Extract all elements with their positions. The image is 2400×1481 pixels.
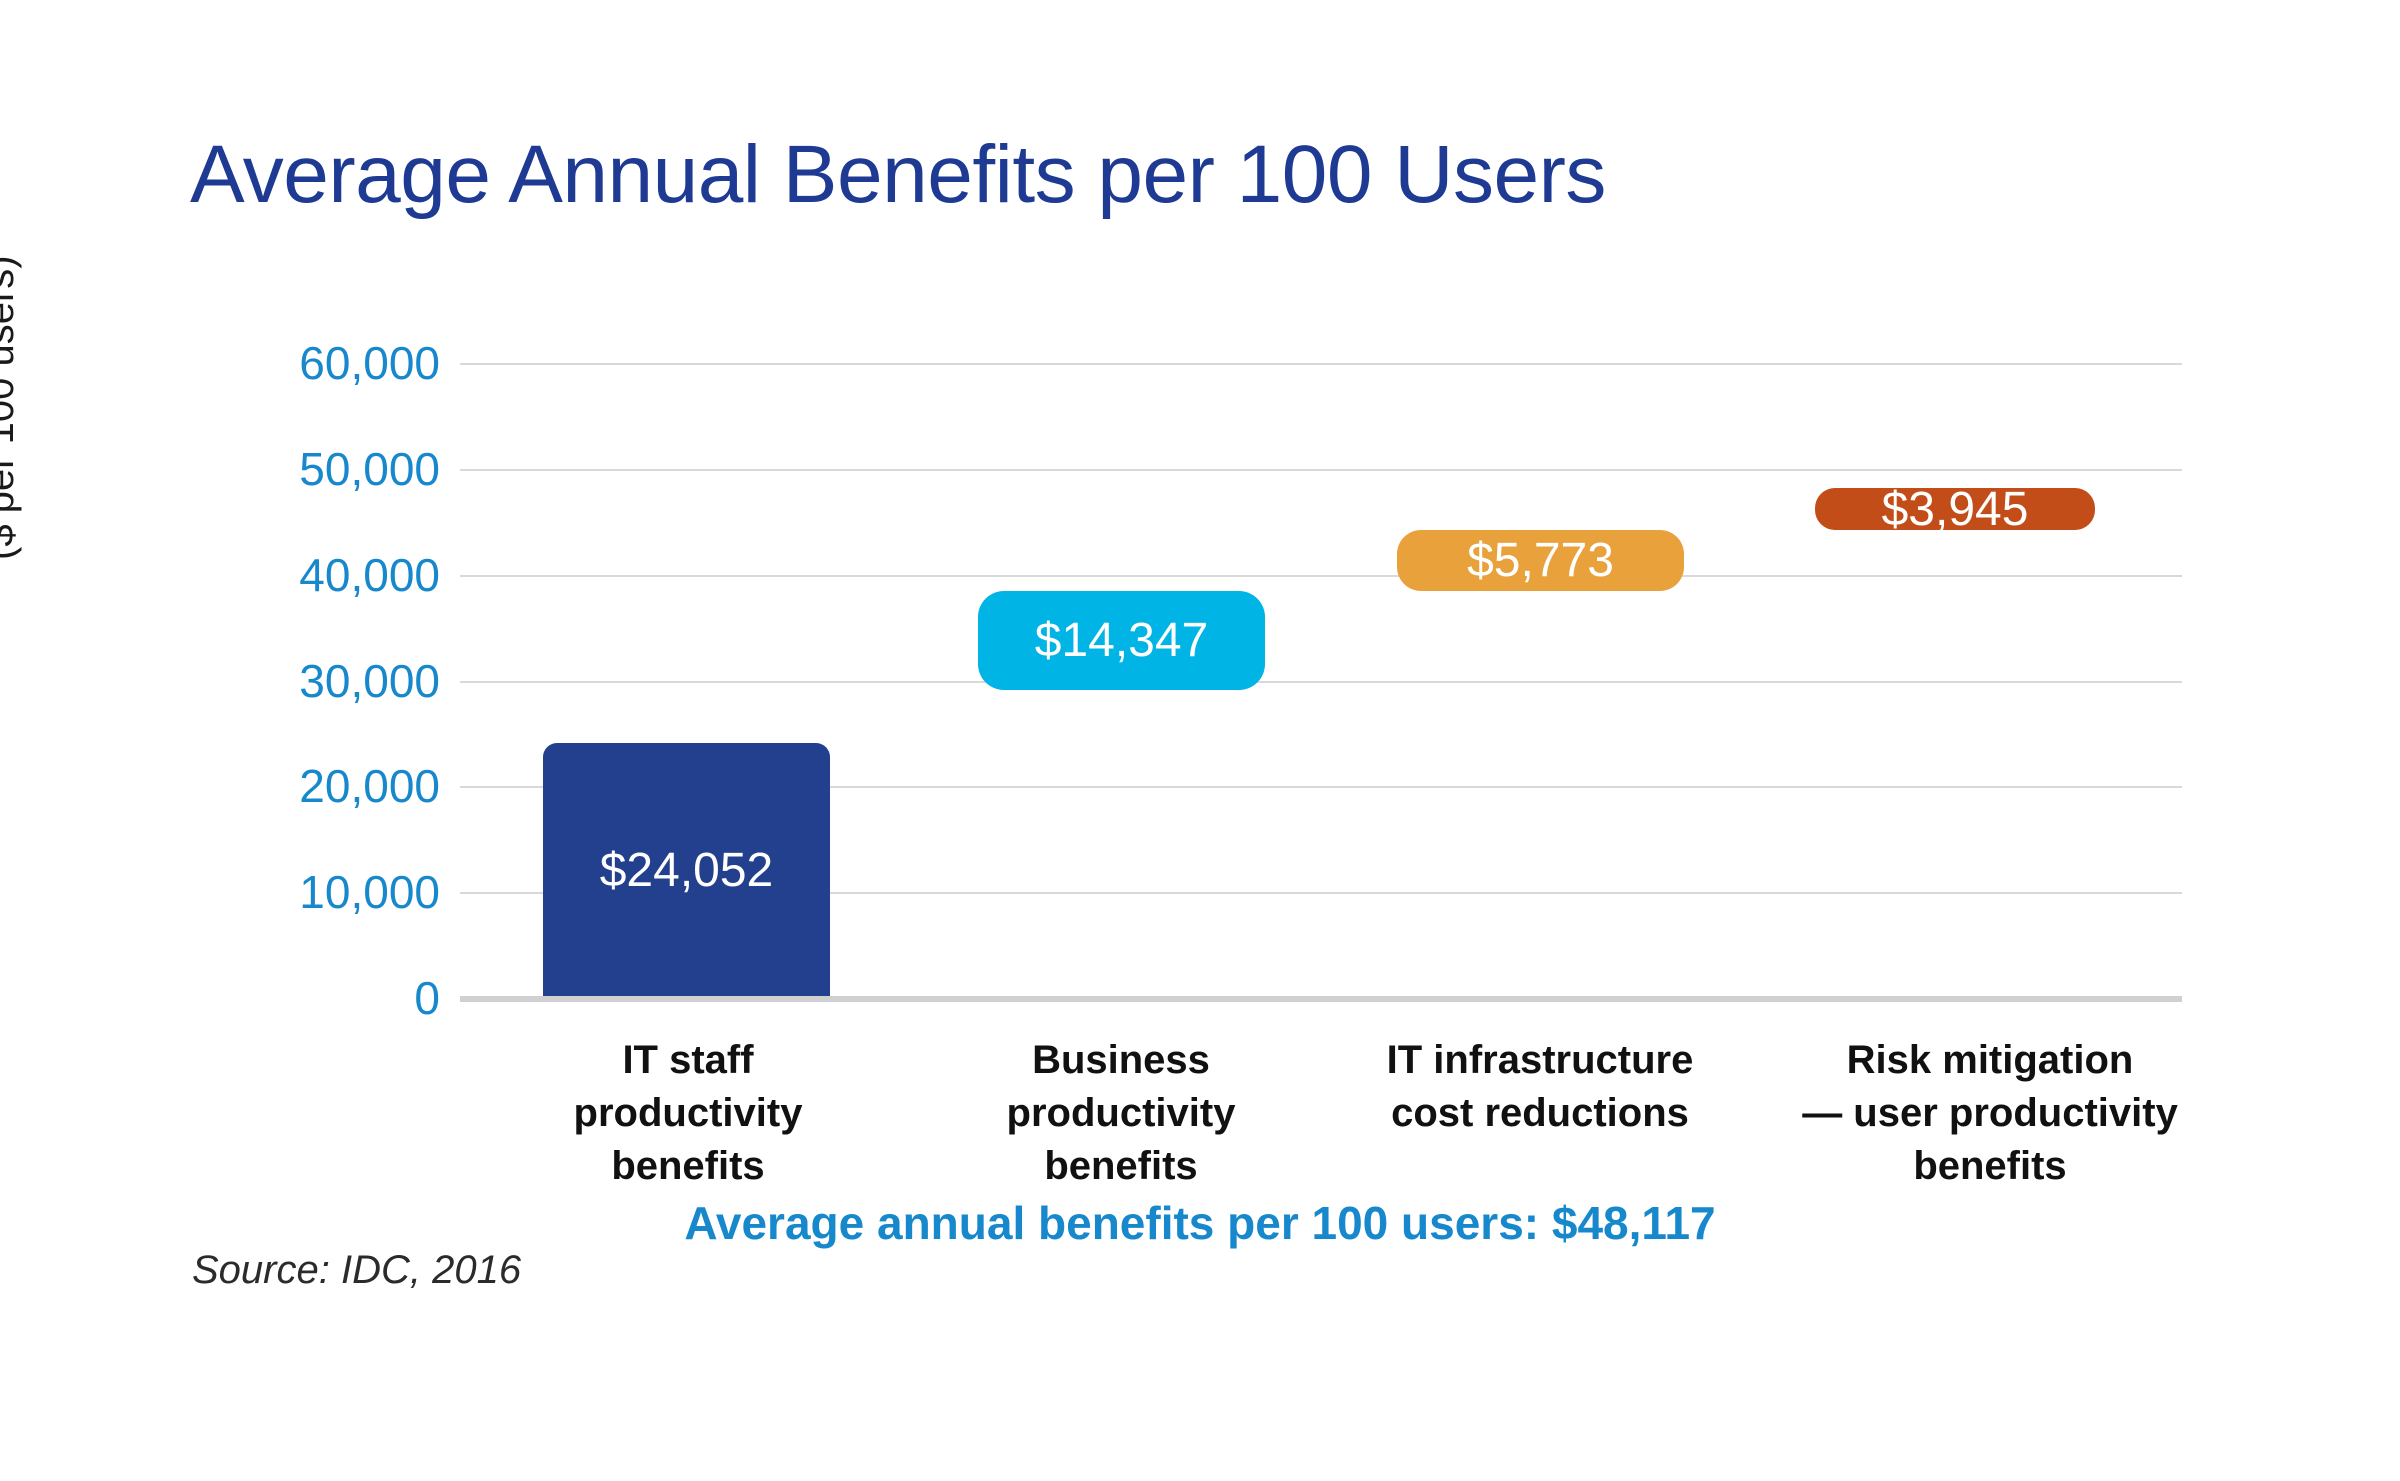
bar-it-staff-productivity-benefits[interactable]: $24,052 bbox=[543, 743, 830, 998]
category-label-business-productivity: Business productivity benefits bbox=[896, 1034, 1346, 1192]
category-line-2: productivity bbox=[463, 1087, 913, 1140]
y-tick-20000: 20,000 bbox=[20, 759, 440, 813]
gridline-50000 bbox=[460, 469, 2182, 471]
y-tick-10000: 10,000 bbox=[20, 865, 440, 919]
bar-risk-mitigation-user-productivity-benefits[interactable]: $3,945 bbox=[1815, 488, 2095, 530]
y-tick-30000: 30,000 bbox=[20, 654, 440, 708]
y-axis-title: ($ per 100 users) bbox=[0, 255, 23, 560]
category-label-risk-mitigation: Risk mitigation — user productivity bene… bbox=[1740, 1034, 2240, 1192]
bar-business-productivity-benefits[interactable]: $14,347 bbox=[978, 591, 1265, 690]
category-line-1: IT staff bbox=[463, 1034, 913, 1087]
bar-value-label: $3,945 bbox=[1882, 482, 2029, 537]
bar-it-infrastructure-cost-reductions[interactable]: $5,773 bbox=[1397, 530, 1684, 591]
category-line-3: benefits bbox=[896, 1140, 1346, 1193]
plot-area: $24,052 $14,347 $5,773 $3,945 bbox=[460, 363, 2182, 998]
category-line-1: IT infrastructure bbox=[1305, 1034, 1775, 1087]
category-line-2: cost reductions bbox=[1305, 1087, 1775, 1140]
bar-value-label: $5,773 bbox=[1467, 533, 1614, 588]
category-line-1: Risk mitigation bbox=[1740, 1034, 2240, 1087]
y-tick-40000: 40,000 bbox=[20, 548, 440, 602]
category-line-3: benefits bbox=[1740, 1140, 2240, 1193]
gridline-30000 bbox=[460, 681, 2182, 683]
x-axis-line bbox=[460, 996, 2182, 1002]
bar-value-label: $24,052 bbox=[600, 843, 774, 898]
category-line-3: benefits bbox=[463, 1140, 913, 1193]
y-tick-0: 0 bbox=[20, 971, 440, 1025]
bar-value-label: $14,347 bbox=[1035, 613, 1209, 668]
category-line-2: productivity bbox=[896, 1087, 1346, 1140]
category-line-1: Business bbox=[896, 1034, 1346, 1087]
y-tick-60000: 60,000 bbox=[20, 336, 440, 390]
chart-slide: Average Annual Benefits per 100 Users ($… bbox=[0, 0, 2400, 1481]
footer-total-label: Average annual benefits per 100 users: $… bbox=[0, 1196, 2400, 1250]
category-label-it-infrastructure: IT infrastructure cost reductions bbox=[1305, 1034, 1775, 1140]
source-note: Source: IDC, 2016 bbox=[192, 1248, 521, 1293]
category-label-it-staff: IT staff productivity benefits bbox=[463, 1034, 913, 1192]
y-tick-50000: 50,000 bbox=[20, 442, 440, 496]
gridline-40000 bbox=[460, 575, 2182, 577]
category-line-2: — user productivity bbox=[1740, 1087, 2240, 1140]
gridline-60000 bbox=[460, 363, 2182, 365]
